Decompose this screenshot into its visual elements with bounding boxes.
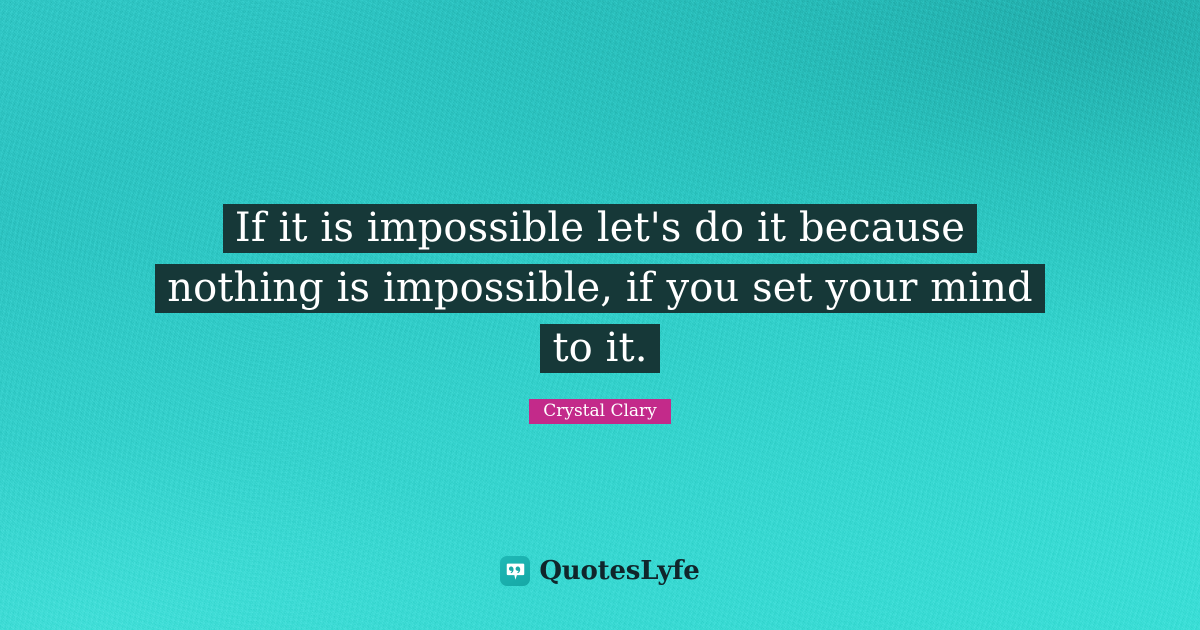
author-name-badge: Crystal Clary bbox=[529, 399, 671, 424]
quote-line-2: nothing is impossible, if you set your m… bbox=[155, 264, 1044, 313]
quote-bubble-icon bbox=[500, 556, 530, 586]
quote-card: If it is impossible let's do it because … bbox=[0, 0, 1200, 630]
author-attribution: Crystal Clary bbox=[0, 399, 1200, 424]
brand-wordmark: QuotesLyfe bbox=[539, 556, 699, 586]
brand-logo[interactable]: QuotesLyfe bbox=[0, 556, 1200, 586]
quote-text-block: If it is impossible let's do it because … bbox=[0, 204, 1200, 373]
quote-line-1: If it is impossible let's do it because bbox=[223, 204, 977, 253]
quote-line-3: to it. bbox=[540, 324, 659, 373]
